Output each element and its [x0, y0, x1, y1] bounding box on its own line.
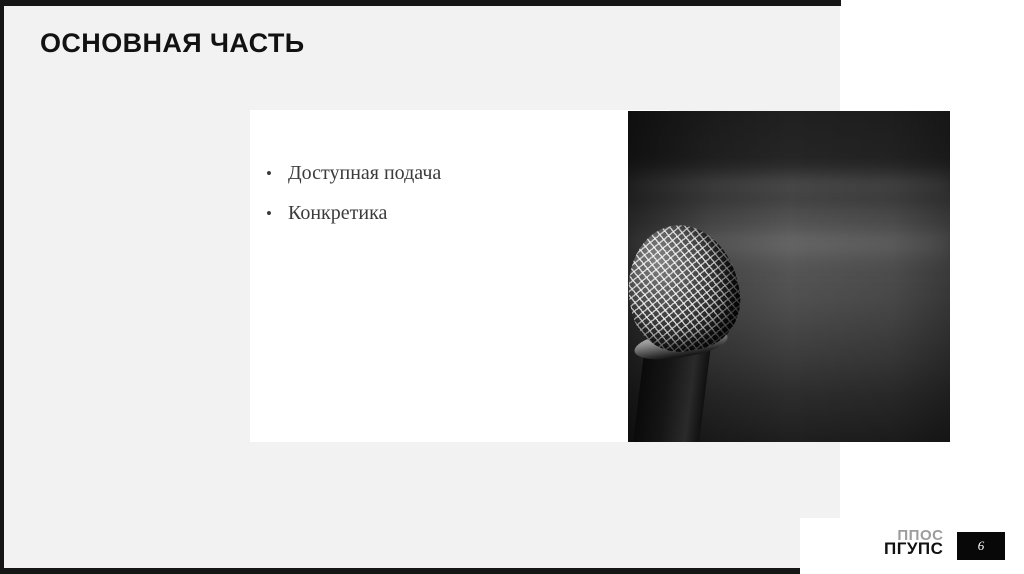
- organization-logo: ППОС ПГУПС: [884, 529, 943, 557]
- slide-frame-bottom: [0, 568, 800, 574]
- microphone-handle: [631, 347, 711, 442]
- microphone-grille-icon: [628, 216, 749, 361]
- bullet-label: Доступная подача: [288, 160, 441, 186]
- bullet-list: • Доступная подача • Конкретика: [266, 160, 441, 240]
- bullet-label: Конкретика: [288, 200, 387, 226]
- page-number-badge: 6: [957, 532, 1005, 560]
- microphone-grille-shading: [628, 216, 749, 361]
- logo-line-pgups: ПГУПС: [884, 542, 943, 557]
- list-item: • Конкретика: [266, 200, 441, 226]
- list-item: • Доступная подача: [266, 160, 441, 186]
- microphone-photo: [628, 111, 950, 442]
- content-card: • Доступная подача • Конкретика: [250, 110, 670, 442]
- presentation-slide: ОСНОВНАЯ ЧАСТЬ • Доступная подача • Конк…: [0, 0, 1024, 574]
- slide-frame-top: [0, 0, 841, 6]
- microphone-figure: [628, 219, 758, 442]
- bullet-dot-icon: •: [266, 205, 288, 222]
- slide-title: ОСНОВНАЯ ЧАСТЬ: [40, 28, 305, 59]
- slide-frame-left: [0, 0, 4, 574]
- bullet-dot-icon: •: [266, 165, 288, 182]
